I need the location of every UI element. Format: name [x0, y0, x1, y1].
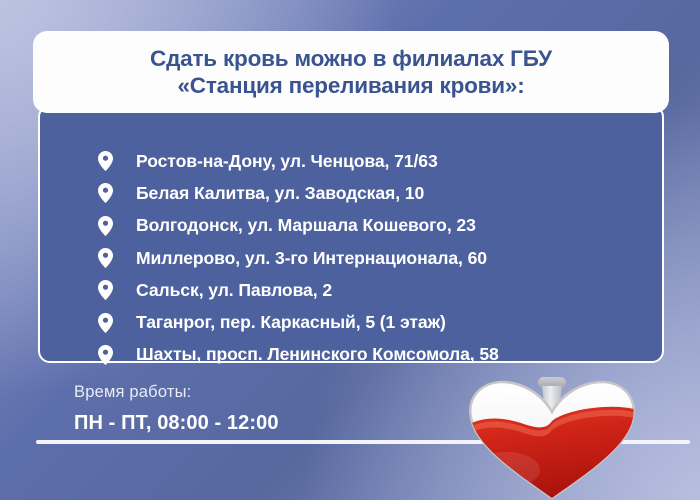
- map-pin-icon: [98, 183, 113, 203]
- location-address: Ростов-на-Дону, ул. Ченцова, 71/63: [136, 151, 438, 172]
- working-hours-label: Время работы:: [74, 383, 191, 402]
- list-item[interactable]: Миллерово, ул. 3-го Интернационала, 60: [40, 242, 662, 274]
- map-pin-icon: [98, 248, 113, 268]
- map-pin-icon: [98, 280, 113, 300]
- location-address: Таганрог, пер. Каркасный, 5 (1 этаж): [136, 312, 446, 333]
- working-hours-value: ПН - ПТ, 08:00 - 12:00: [74, 412, 279, 435]
- card-body: Ростов-на-Дону, ул. Ченцова, 71/63 Белая…: [38, 105, 664, 363]
- list-item[interactable]: Сальск, ул. Павлова, 2: [40, 274, 662, 306]
- list-item[interactable]: Ростов-на-Дону, ул. Ченцова, 71/63: [40, 145, 662, 177]
- location-address: Миллерово, ул. 3-го Интернационала, 60: [136, 248, 487, 269]
- card-title-line2: «Станция переливания крови»:: [177, 72, 524, 99]
- map-pin-icon: [98, 151, 113, 171]
- location-address: Сальск, ул. Павлова, 2: [136, 280, 332, 301]
- map-pin-icon: [98, 345, 113, 365]
- list-item[interactable]: Шахты, просп. Ленинского Комсомола, 58: [40, 339, 662, 371]
- location-address: Волгодонск, ул. Маршала Кошевого, 23: [136, 215, 476, 236]
- poster-canvas: Сдать кровь можно в филиалах ГБУ «Станци…: [0, 0, 700, 500]
- location-address: Шахты, просп. Ленинского Комсомола, 58: [136, 344, 499, 365]
- map-pin-icon: [98, 313, 113, 333]
- card-title-line1: Сдать кровь можно в филиалах ГБУ: [150, 45, 552, 72]
- map-pin-icon: [98, 216, 113, 236]
- location-address: Белая Калитва, ул. Заводская, 10: [136, 183, 424, 204]
- blood-heart-flask-icon: [462, 374, 642, 500]
- locations-list: Ростов-на-Дону, ул. Ченцова, 71/63 Белая…: [40, 145, 662, 371]
- card-header: Сдать кровь можно в филиалах ГБУ «Станци…: [33, 31, 669, 113]
- branches-card: Сдать кровь можно в филиалах ГБУ «Станци…: [33, 31, 669, 367]
- list-item[interactable]: Таганрог, пер. Каркасный, 5 (1 этаж): [40, 306, 662, 338]
- list-item[interactable]: Волгодонск, ул. Маршала Кошевого, 23: [40, 210, 662, 242]
- list-item[interactable]: Белая Калитва, ул. Заводская, 10: [40, 177, 662, 209]
